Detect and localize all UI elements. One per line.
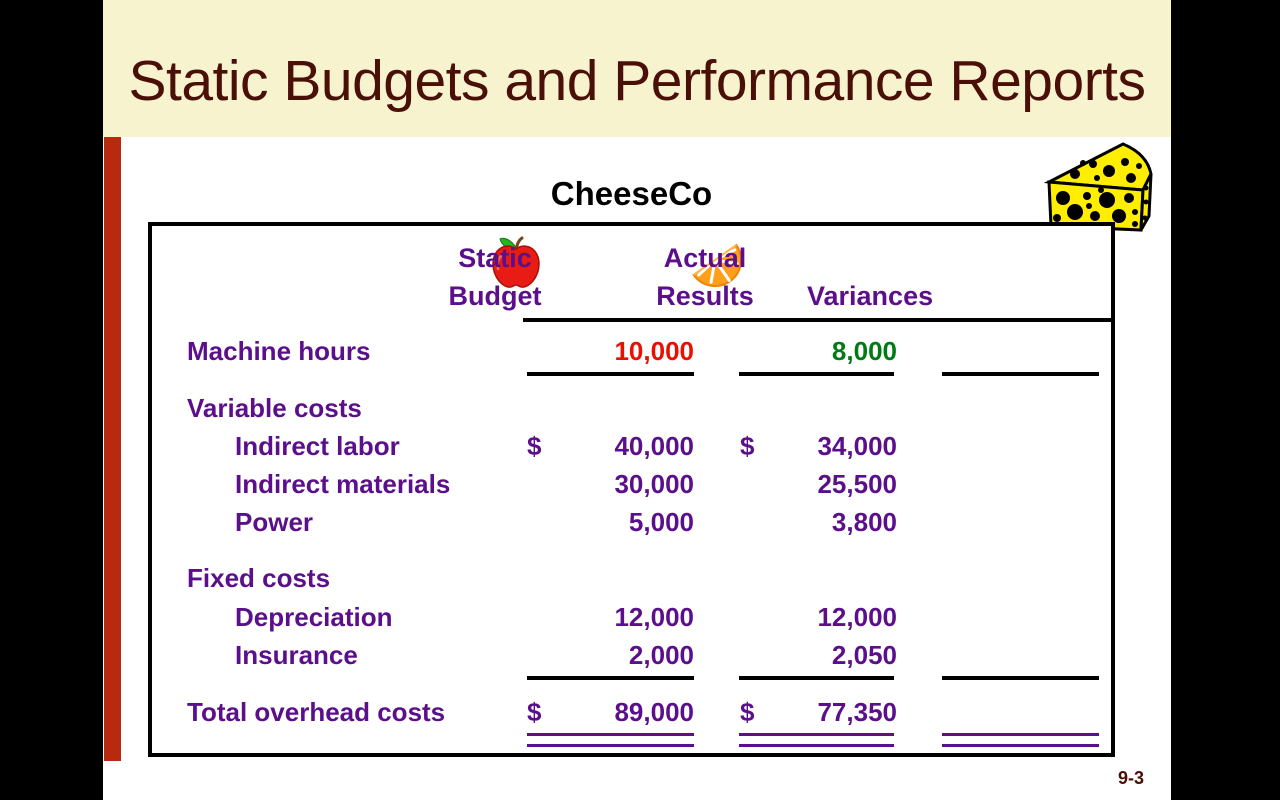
table-row-label: Insurance [187,640,358,671]
total-double-underline-actual [739,733,894,747]
header-line-budget: Budget [415,277,575,315]
total-double-underline-budget [527,733,694,747]
row-underline-budget [527,676,694,680]
table-row-label: Indirect materials [187,469,450,500]
table-cell-budget-total: 89,000 [507,697,694,728]
header-line-actual: Actual [620,239,790,277]
title-banner: Static Budgets and Performance Reports [103,0,1171,137]
table-total-label: Total overhead costs [187,697,445,728]
table-cell-actual: 8,000 [717,336,897,367]
table-cell-budget: 5,000 [507,507,694,538]
table-cell-budget: 10,000 [507,336,694,367]
total-double-underline-variance [942,733,1099,747]
table-cell-budget: 30,000 [507,469,694,500]
row-underline-variance [942,676,1099,680]
row-underline-budget [527,372,694,376]
column-header-variances: Variances [807,277,1007,315]
table-section-label: Fixed costs [187,563,330,594]
header-line-static: Static [415,239,575,277]
header-divider-rule [523,318,1111,322]
company-name: CheeseCo [148,175,1115,213]
table-row-label: Machine hours [187,336,370,367]
column-header-static-budget: Static Budget [415,239,575,315]
table-cell-actual-total: 77,350 [717,697,897,728]
table-row-label: Power [187,507,313,538]
row-underline-variance [942,372,1099,376]
row-underline-actual [739,372,894,376]
table-section-label: Variable costs [187,393,362,424]
table-cell-actual: 2,050 [717,640,897,671]
report-inner: Static Budget Actual Results Variances M… [152,226,1111,753]
table-cell-actual: 25,500 [717,469,897,500]
table-cell-actual: 34,000 [717,431,897,462]
row-underline-actual [739,676,894,680]
table-cell-budget: 12,000 [507,602,694,633]
performance-report-table: Static Budget Actual Results Variances M… [148,222,1115,757]
table-row-label: Depreciation [187,602,393,633]
table-cell-budget: 2,000 [507,640,694,671]
page-title: Static Budgets and Performance Reports [103,50,1171,112]
table-cell-actual: 12,000 [717,602,897,633]
slide-root: Static Budgets and Performance Reports C… [0,0,1280,800]
header-line-results: Results [620,277,790,315]
table-cell-budget: 40,000 [507,431,694,462]
page-number: 9-3 [1118,768,1144,789]
column-header-actual-results: Actual Results [620,239,790,315]
table-row-label: Indirect labor [187,431,400,462]
table-cell-actual: 3,800 [717,507,897,538]
accent-bar-left [104,137,121,761]
